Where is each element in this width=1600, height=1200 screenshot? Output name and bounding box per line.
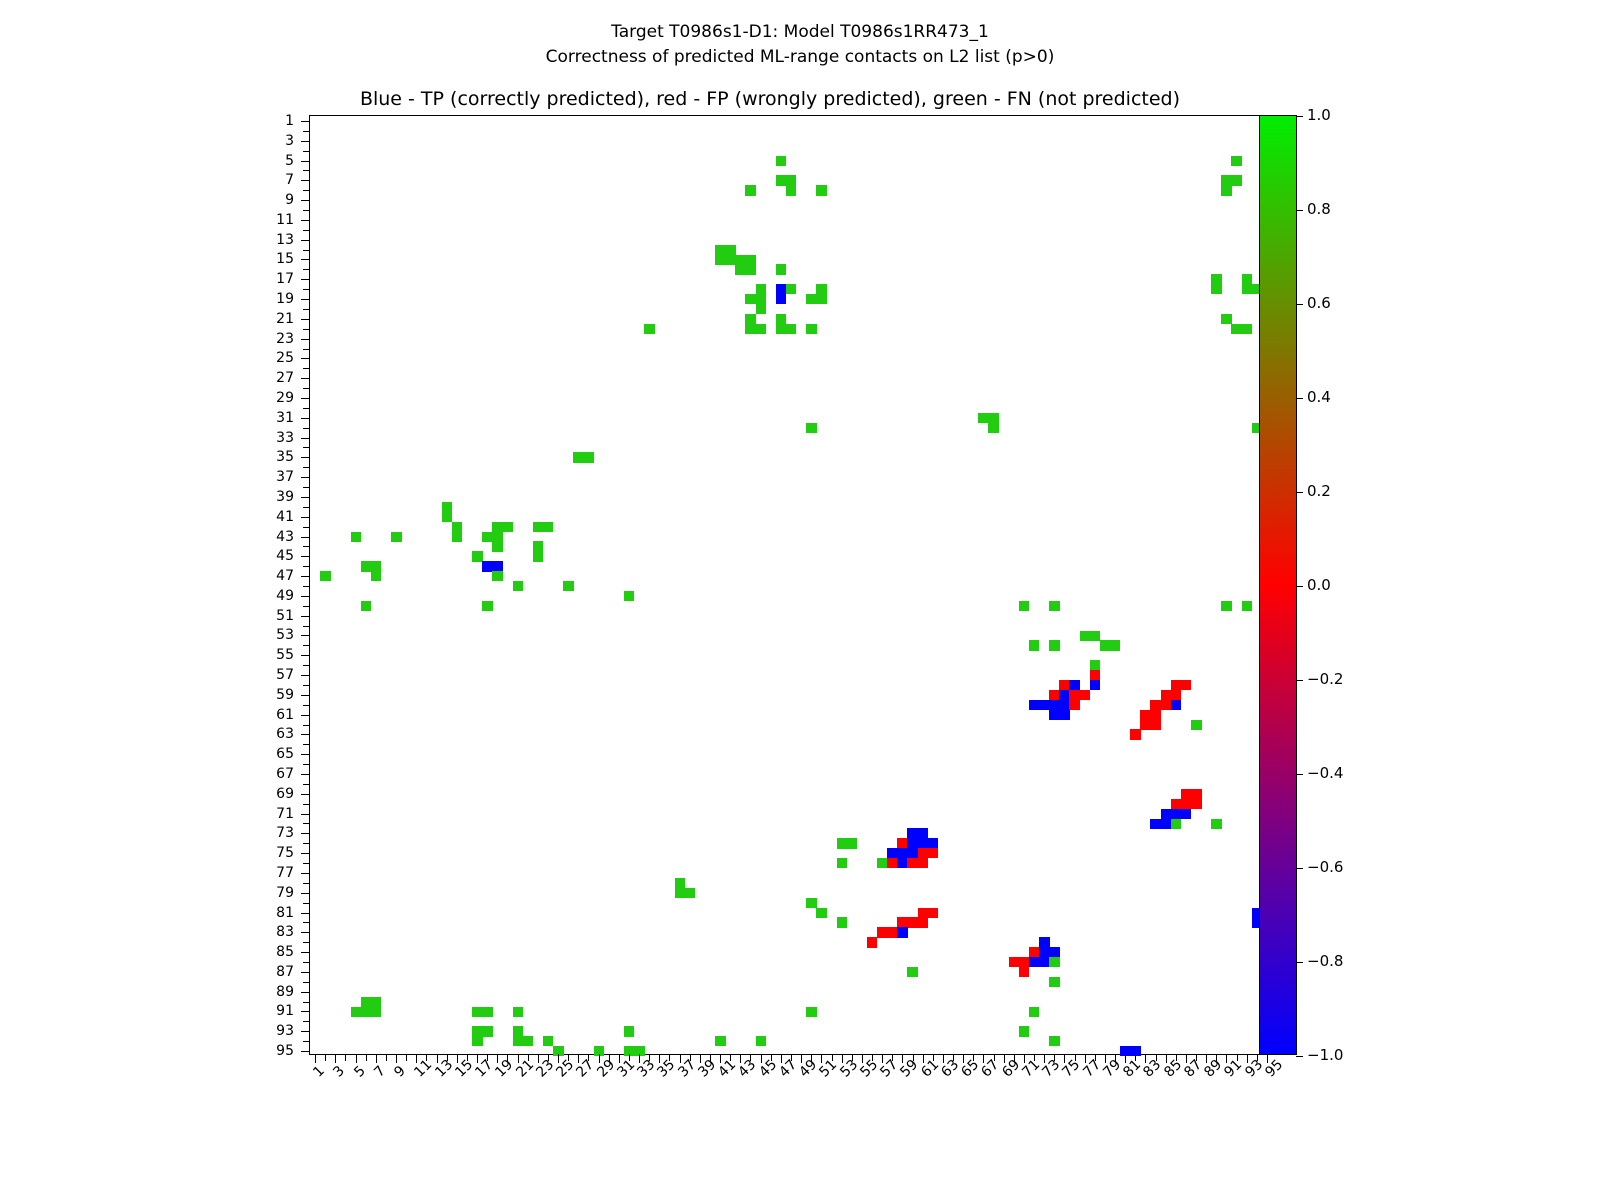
y-tick <box>303 784 310 785</box>
colorbar-tick-label: −0.4 <box>1307 766 1343 781</box>
y-tick-label: 27 <box>256 371 294 385</box>
y-tick <box>301 932 310 933</box>
y-tick <box>301 616 310 617</box>
contact-cell <box>442 512 453 522</box>
x-tick <box>558 1054 559 1063</box>
y-tick <box>301 517 310 518</box>
x-tick <box>1176 1054 1177 1061</box>
x-tick <box>1054 1054 1055 1061</box>
y-tick <box>303 705 310 706</box>
colorbar-tick-label: −0.2 <box>1307 672 1343 687</box>
contact-cell <box>776 264 787 274</box>
x-tick <box>1166 1054 1167 1063</box>
contact-cell <box>533 551 544 561</box>
colorbar-tick <box>1296 304 1303 305</box>
contact-cell <box>1140 720 1151 730</box>
y-tick-label: 57 <box>256 668 294 682</box>
y-tick-label: 21 <box>256 312 294 326</box>
contact-cell <box>1211 819 1222 829</box>
x-tick <box>892 1054 893 1061</box>
contact-cell <box>513 1026 524 1036</box>
y-tick <box>303 131 310 132</box>
contact-cell <box>816 185 827 195</box>
contact-cell <box>1029 957 1040 967</box>
x-tick <box>599 1054 600 1063</box>
colorbar-tick <box>1296 1056 1303 1057</box>
contact-cell <box>644 324 655 334</box>
contact-cell <box>624 1026 635 1036</box>
y-tick <box>303 329 310 330</box>
y-tick-label: 1 <box>256 114 294 128</box>
contact-cell <box>988 413 999 423</box>
contact-cell <box>1221 185 1232 195</box>
x-tick <box>842 1054 843 1063</box>
y-tick <box>301 972 310 973</box>
y-tick <box>301 398 310 399</box>
contact-cell <box>563 581 574 591</box>
contact-cell <box>1019 1026 1030 1036</box>
y-tick <box>303 546 310 547</box>
y-tick <box>301 794 310 795</box>
y-tick <box>301 596 310 597</box>
contact-cell <box>1140 710 1151 720</box>
y-tick <box>303 982 310 983</box>
contact-cell <box>1059 690 1070 700</box>
contact-cell <box>543 1036 554 1046</box>
x-tick <box>973 1054 974 1061</box>
contact-cell <box>816 908 827 918</box>
y-tick <box>301 161 310 162</box>
contact-cell <box>573 452 584 462</box>
y-tick-label: 7 <box>256 173 294 187</box>
x-tick <box>345 1054 346 1061</box>
x-tick <box>690 1054 691 1061</box>
contact-cell <box>867 937 878 947</box>
y-tick <box>303 626 310 627</box>
contact-cell <box>472 1036 483 1046</box>
y-tick <box>303 447 310 448</box>
contact-cell <box>492 532 503 542</box>
y-tick <box>303 606 310 607</box>
contact-cell <box>786 324 797 334</box>
contact-cell <box>1090 680 1101 690</box>
y-tick <box>303 942 310 943</box>
y-tick-label: 91 <box>256 1004 294 1018</box>
y-tick <box>303 507 310 508</box>
x-tick <box>1095 1054 1096 1061</box>
contact-cell <box>745 264 756 274</box>
contact-cell <box>715 245 726 255</box>
contact-cell <box>1080 690 1091 700</box>
y-tick <box>301 259 310 260</box>
y-tick <box>303 665 310 666</box>
y-tick <box>301 833 310 834</box>
contact-cell <box>837 858 848 868</box>
contact-cell <box>1029 1007 1040 1017</box>
colorbar-tick-label: 1.0 <box>1307 108 1331 123</box>
contact-cell <box>1161 700 1172 710</box>
y-tick <box>301 893 310 894</box>
contact-cell <box>907 828 918 838</box>
contact-cell <box>472 1026 483 1036</box>
contact-cell <box>816 294 827 304</box>
contact-cell <box>745 185 756 195</box>
y-tick-label: 51 <box>256 609 294 623</box>
contact-cell <box>351 532 362 542</box>
contact-cell <box>907 917 918 927</box>
contact-cell <box>776 294 787 304</box>
contact-cell <box>1242 324 1253 334</box>
contact-cell <box>776 324 787 334</box>
contact-cell <box>1019 967 1030 977</box>
contact-cell <box>361 997 372 1007</box>
contact-cell <box>1019 957 1030 967</box>
y-tick <box>301 913 310 914</box>
contact-cell <box>897 838 908 848</box>
x-tick <box>396 1054 397 1063</box>
y-tick <box>303 349 310 350</box>
x-tick <box>639 1054 640 1063</box>
x-tick <box>680 1054 681 1063</box>
contact-cell <box>502 522 513 532</box>
y-tick <box>303 250 310 251</box>
contact-cell <box>371 571 382 581</box>
contact-cell <box>442 502 453 512</box>
y-tick <box>303 744 310 745</box>
y-tick <box>303 922 310 923</box>
contact-cell <box>725 245 736 255</box>
y-tick-label: 75 <box>256 846 294 860</box>
contact-cell <box>1039 700 1050 710</box>
y-tick <box>303 685 310 686</box>
contact-cell <box>371 997 382 1007</box>
contact-cell <box>877 858 888 868</box>
x-tick <box>791 1054 792 1061</box>
y-tick <box>303 151 310 152</box>
contact-cell <box>887 858 898 868</box>
contact-cell <box>816 284 827 294</box>
contact-cell <box>907 858 918 868</box>
x-tick <box>1004 1054 1005 1063</box>
colorbar-tick-label: 0.8 <box>1307 202 1331 217</box>
contact-cell <box>887 848 898 858</box>
contact-cell <box>1029 640 1040 650</box>
y-tick <box>303 428 310 429</box>
y-tick <box>301 378 310 379</box>
contact-cell <box>1049 601 1060 611</box>
contact-cell <box>1181 799 1192 809</box>
contact-cell <box>1242 274 1253 284</box>
x-tick <box>426 1054 427 1061</box>
y-tick <box>301 1011 310 1012</box>
y-tick-label: 59 <box>256 688 294 702</box>
contact-cell <box>685 888 696 898</box>
y-tick-label: 11 <box>256 213 294 227</box>
contact-cell <box>786 284 797 294</box>
contact-cell <box>1059 680 1070 690</box>
y-tick <box>303 190 310 191</box>
y-tick <box>301 358 310 359</box>
contact-cell <box>897 858 908 868</box>
contact-cell <box>806 423 817 433</box>
x-tick <box>943 1054 944 1063</box>
y-tick <box>301 200 310 201</box>
contact-cell <box>482 1026 493 1036</box>
y-tick-label: 37 <box>256 470 294 484</box>
colorbar-tick-label: 0.4 <box>1307 390 1331 405</box>
x-tick-label: 3 <box>331 1064 347 1080</box>
y-tick-label: 13 <box>256 233 294 247</box>
contact-cell <box>1242 601 1253 611</box>
y-tick <box>303 804 310 805</box>
contact-cell <box>745 255 756 265</box>
y-tick <box>303 289 310 290</box>
contact-cell <box>806 324 817 334</box>
x-tick <box>447 1054 448 1061</box>
contact-cell <box>513 1036 524 1046</box>
x-tick <box>518 1054 519 1063</box>
y-tick <box>303 170 310 171</box>
y-tick-label: 95 <box>256 1044 294 1058</box>
contact-cell <box>1059 710 1070 720</box>
contact-cell <box>1049 640 1060 650</box>
x-tick-label: 9 <box>392 1064 408 1080</box>
contact-cell <box>1181 680 1192 690</box>
contact-cell <box>1049 977 1060 987</box>
y-tick <box>303 843 310 844</box>
contact-cell <box>1039 937 1050 947</box>
x-tick <box>1115 1054 1116 1061</box>
y-tick-label: 25 <box>256 351 294 365</box>
y-tick-label: 65 <box>256 747 294 761</box>
contact-cell <box>837 917 848 927</box>
contact-cell <box>1171 690 1182 700</box>
contact-cell <box>1039 947 1050 957</box>
colorbar-tick-label: −0.8 <box>1307 954 1343 969</box>
y-tick <box>301 655 310 656</box>
y-tick-label: 83 <box>256 925 294 939</box>
colorbar-tick <box>1296 398 1303 399</box>
contact-cell <box>1171 819 1182 829</box>
y-tick <box>301 477 310 478</box>
x-tick <box>538 1054 539 1063</box>
contact-cell <box>1069 690 1080 700</box>
y-tick <box>301 754 310 755</box>
contact-cell <box>1150 700 1161 710</box>
y-tick <box>303 388 310 389</box>
contact-cell <box>897 917 908 927</box>
contact-cell <box>1049 700 1060 710</box>
y-tick <box>301 734 310 735</box>
y-tick <box>301 121 310 122</box>
contact-cell <box>1029 947 1040 957</box>
contact-cell <box>847 838 858 848</box>
y-tick-label: 19 <box>256 292 294 306</box>
contact-cell <box>1171 680 1182 690</box>
y-tick <box>303 823 310 824</box>
y-tick <box>303 309 310 310</box>
contact-cell <box>1161 690 1172 700</box>
y-tick-label: 73 <box>256 826 294 840</box>
y-tick <box>301 774 310 775</box>
contact-cell <box>1211 274 1222 284</box>
x-tick-label: 5 <box>352 1064 368 1080</box>
x-tick <box>477 1054 478 1063</box>
x-tick <box>1216 1054 1217 1061</box>
contact-cell <box>1181 809 1192 819</box>
contact-cell <box>1191 799 1202 809</box>
y-tick <box>301 339 310 340</box>
y-tick-label: 69 <box>256 787 294 801</box>
y-tick-label: 35 <box>256 450 294 464</box>
contact-cell <box>1231 324 1242 334</box>
contact-cell <box>756 1036 767 1046</box>
contact-cell <box>745 294 756 304</box>
contact-cell <box>1191 720 1202 730</box>
x-tick <box>1257 1054 1258 1061</box>
y-tick <box>301 220 310 221</box>
colorbar-tick-label: 0.2 <box>1307 484 1331 499</box>
x-tick <box>913 1054 914 1061</box>
contact-cell <box>1090 670 1101 680</box>
contact-cell <box>776 284 787 294</box>
contact-cell <box>745 324 756 334</box>
x-tick <box>1085 1054 1086 1063</box>
x-tick <box>862 1054 863 1063</box>
colorbar-tick <box>1296 868 1303 869</box>
y-tick <box>301 1031 310 1032</box>
contact-cell <box>918 848 929 858</box>
y-tick <box>303 210 310 211</box>
colorbar-tick-label: 0.6 <box>1307 296 1331 311</box>
y-tick <box>301 853 310 854</box>
contact-cell <box>1161 819 1172 829</box>
x-tick <box>923 1054 924 1063</box>
contact-cell <box>1171 700 1182 710</box>
y-tick-label: 87 <box>256 965 294 979</box>
y-tick <box>303 527 310 528</box>
colorbar[interactable]: 1.00.80.60.40.20.0−0.2−0.4−0.6−0.8−1.0 <box>1259 115 1297 1055</box>
contact-cell <box>1069 680 1080 690</box>
x-tick <box>1196 1054 1197 1061</box>
x-tick <box>376 1054 377 1063</box>
contact-cell <box>735 255 746 265</box>
contact-cell <box>786 185 797 195</box>
contact-cell <box>1150 720 1161 730</box>
x-tick <box>953 1054 954 1061</box>
x-tick <box>750 1054 751 1061</box>
y-tick-label: 53 <box>256 628 294 642</box>
y-tick <box>303 467 310 468</box>
contact-cell <box>1221 601 1232 611</box>
x-tick <box>811 1054 812 1061</box>
y-tick-label: 45 <box>256 549 294 563</box>
x-tick <box>1247 1054 1248 1063</box>
y-tick-label: 15 <box>256 252 294 266</box>
x-tick <box>1024 1054 1025 1063</box>
y-tick-label: 81 <box>256 906 294 920</box>
contact-cell <box>745 314 756 324</box>
x-tick <box>588 1054 589 1061</box>
x-tick <box>1034 1054 1035 1061</box>
y-tick <box>303 269 310 270</box>
contact-cell <box>371 561 382 571</box>
y-tick <box>301 675 310 676</box>
y-tick <box>301 873 310 874</box>
contact-cell <box>897 848 908 858</box>
contact-cell <box>1049 690 1060 700</box>
contact-cell <box>735 264 746 274</box>
x-tick <box>609 1054 610 1061</box>
colorbar-tick-label: −1.0 <box>1307 1048 1343 1063</box>
contact-cell <box>1009 957 1020 967</box>
x-tick-label: 7 <box>372 1064 388 1080</box>
contact-cell <box>918 908 929 918</box>
contact-cell <box>1029 700 1040 710</box>
y-tick <box>301 141 310 142</box>
contact-cell <box>928 838 939 848</box>
contact-cell <box>918 838 929 848</box>
contact-cell <box>472 551 483 561</box>
y-tick <box>301 952 310 953</box>
contact-cell <box>320 571 331 581</box>
contact-cell <box>988 423 999 433</box>
y-tick-label: 23 <box>256 332 294 346</box>
y-tick <box>301 180 310 181</box>
x-tick-label: 1 <box>311 1064 327 1080</box>
y-tick-label: 77 <box>256 866 294 880</box>
contact-cell <box>1191 789 1202 799</box>
contact-cell <box>887 927 898 937</box>
y-tick <box>301 497 310 498</box>
y-tick-label: 41 <box>256 510 294 524</box>
x-tick <box>437 1054 438 1063</box>
contact-cell <box>391 532 402 542</box>
contact-cell <box>1049 957 1060 967</box>
y-tick-label: 5 <box>256 154 294 168</box>
x-tick <box>669 1054 670 1061</box>
contact-cell <box>361 601 372 611</box>
colorbar-tick <box>1296 492 1303 493</box>
y-tick-label: 85 <box>256 945 294 959</box>
x-tick <box>1267 1054 1268 1063</box>
contact-cell <box>837 838 848 848</box>
y-tick <box>303 903 310 904</box>
contact-cell <box>371 1007 382 1017</box>
contact-cell <box>482 561 493 571</box>
x-tick <box>872 1054 873 1061</box>
contact-cell <box>1039 957 1050 967</box>
contact-cell <box>1049 1036 1060 1046</box>
y-tick <box>303 566 310 567</box>
y-tick <box>303 230 310 231</box>
contact-cell <box>715 255 726 265</box>
x-tick <box>771 1054 772 1061</box>
contact-cell <box>533 522 544 532</box>
colorbar-tick-label: −0.6 <box>1307 860 1343 875</box>
y-tick <box>301 1051 310 1052</box>
y-tick <box>301 299 310 300</box>
contact-cell <box>452 522 463 532</box>
y-tick-label: 39 <box>256 490 294 504</box>
contact-cell <box>492 541 503 551</box>
contact-cell <box>1171 809 1182 819</box>
x-tick <box>1186 1054 1187 1063</box>
y-tick <box>303 1021 310 1022</box>
contact-cell <box>1110 640 1121 650</box>
x-tick <box>1237 1054 1238 1061</box>
contact-map-plot[interactable]: 1357911131517192123252729313335373941434… <box>309 115 1271 1055</box>
